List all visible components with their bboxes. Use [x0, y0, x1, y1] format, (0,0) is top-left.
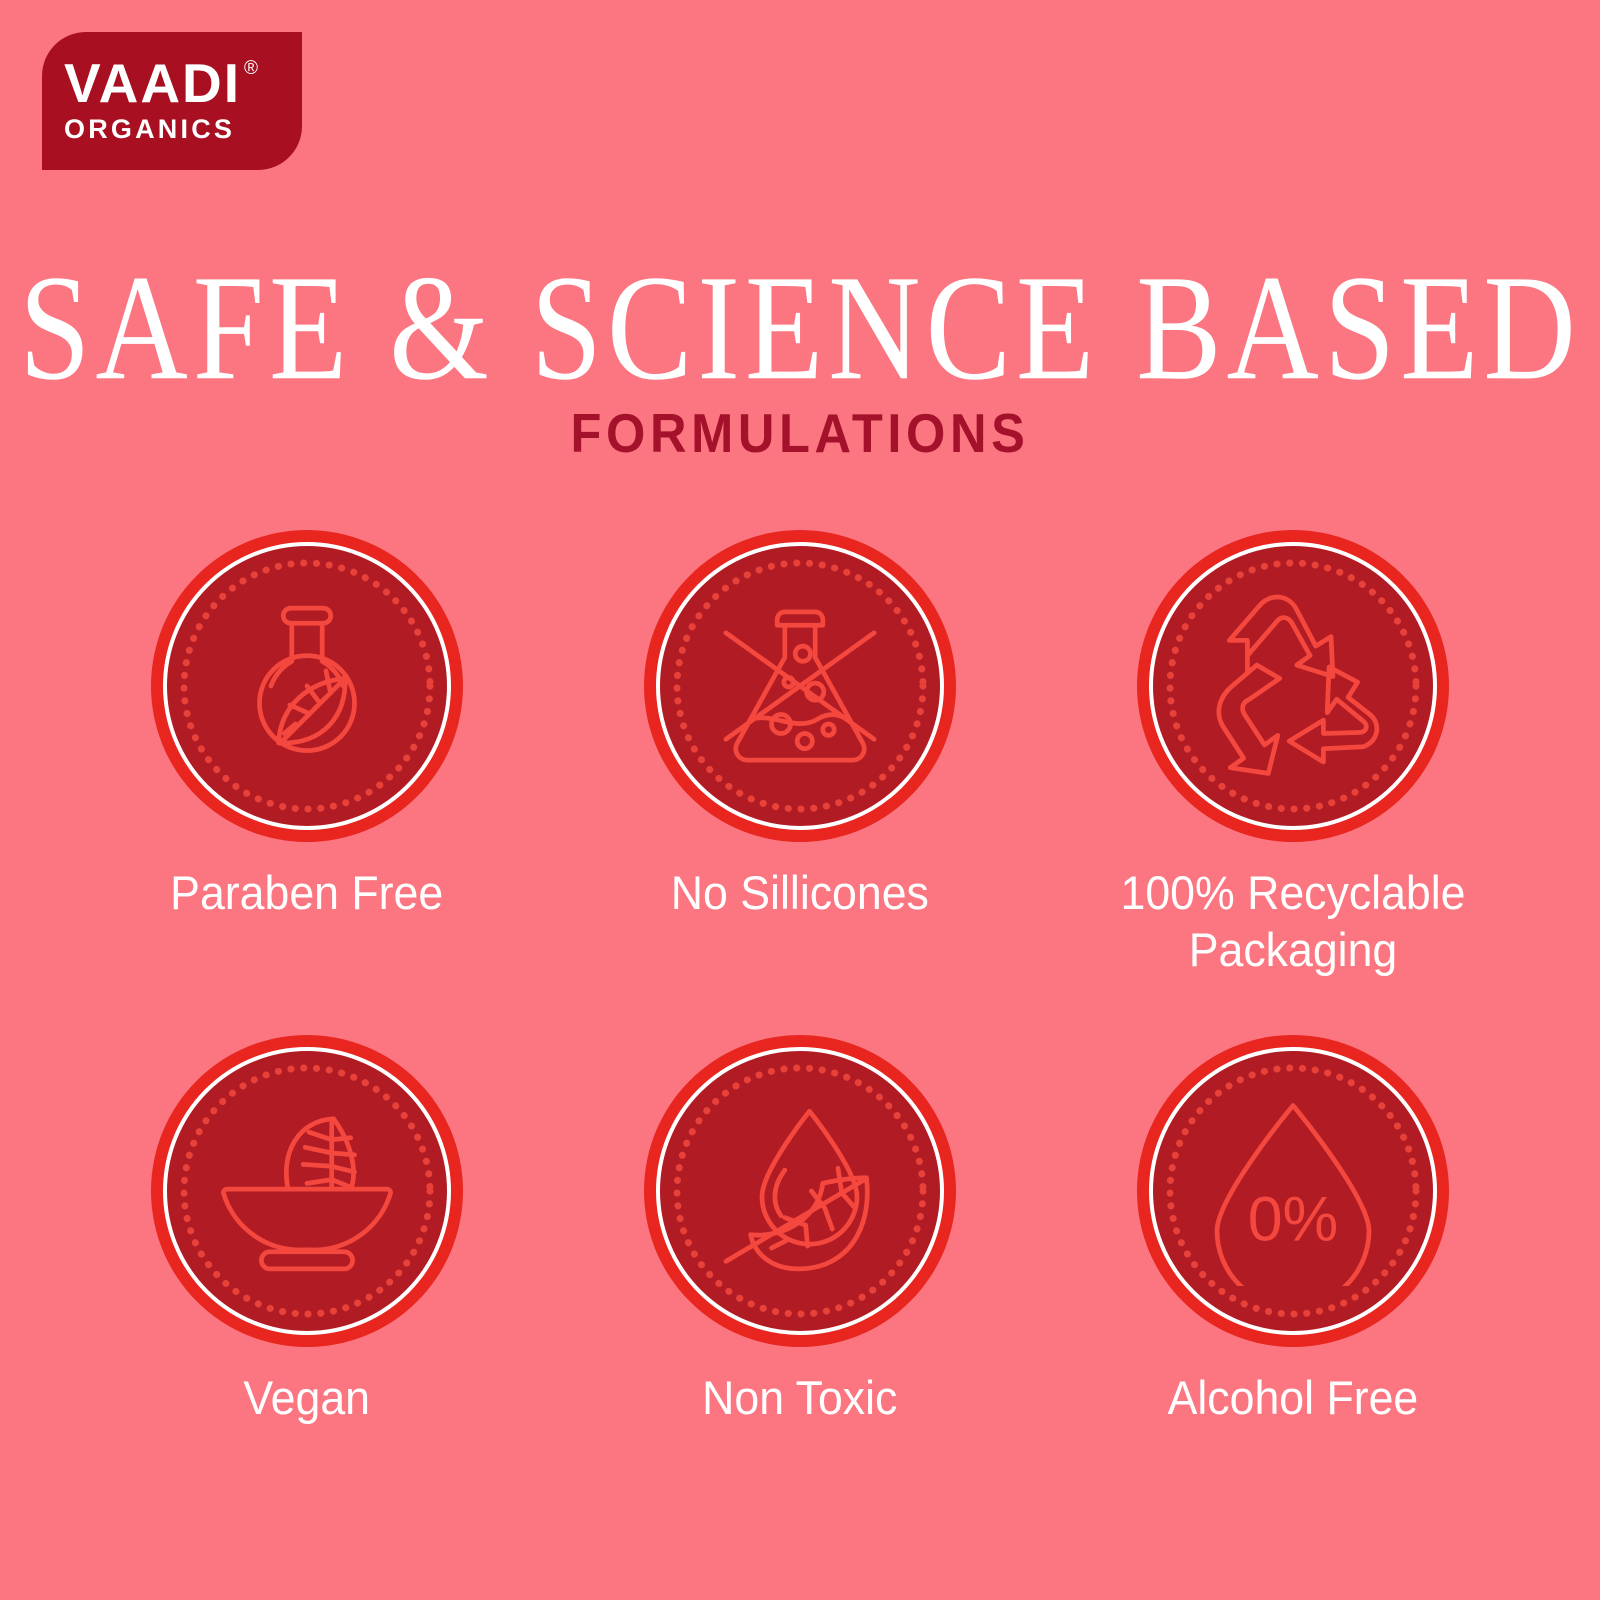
recycle-icon [1198, 591, 1388, 781]
droplet-zero-percent-icon: 0% [1198, 1096, 1388, 1286]
benefit-label: Paraben Free [170, 864, 443, 921]
page-title: SAFE & SCIENCE BASED [0, 252, 1600, 403]
benefit-item-recyclable: 100% Recyclable Packaging [1047, 530, 1540, 1035]
registered-trademark-icon: ® [244, 59, 258, 78]
logo-wordmark-row: VAADI ® [64, 57, 258, 111]
droplet-percent-text: 0% [1248, 1184, 1339, 1254]
page-subtitle: FORMULATIONS [64, 406, 1536, 461]
benefit-item-alcohol-free: 0% Alcohol Free [1047, 1035, 1540, 1540]
benefit-label: Non Toxic [702, 1369, 897, 1426]
benefit-badge-grid: Paraben Free [60, 530, 1540, 1540]
logo-brand-name: VAADI [64, 57, 241, 111]
benefit-item-non-toxic: Non Toxic [553, 1035, 1046, 1540]
badge-vegan [151, 1035, 463, 1347]
badge-alcohol-free: 0% [1137, 1035, 1449, 1347]
logo-brand-subtitle: ORGANICS [64, 114, 235, 145]
benefit-item-paraben-free: Paraben Free [60, 530, 553, 1035]
crossed-flask-icon [705, 591, 895, 781]
droplet-leaf-icon [705, 1096, 895, 1286]
benefit-item-vegan: Vegan [60, 1035, 553, 1540]
benefit-item-no-sillicones: No Sillicones [553, 530, 1046, 1035]
badge-non-toxic [644, 1035, 956, 1347]
benefit-label: Alcohol Free [1168, 1369, 1419, 1426]
benefit-label: 100% Recyclable Packaging [1094, 864, 1493, 979]
benefit-label: No Sillicones [671, 864, 929, 921]
badge-no-sillicones [644, 530, 956, 842]
badge-recyclable [1137, 530, 1449, 842]
brand-logo: VAADI ® ORGANICS [42, 32, 302, 170]
flask-leaf-icon [212, 591, 402, 781]
bowl-leaf-icon [212, 1096, 402, 1286]
benefit-label: Vegan [243, 1369, 370, 1426]
badge-paraben-free [151, 530, 463, 842]
